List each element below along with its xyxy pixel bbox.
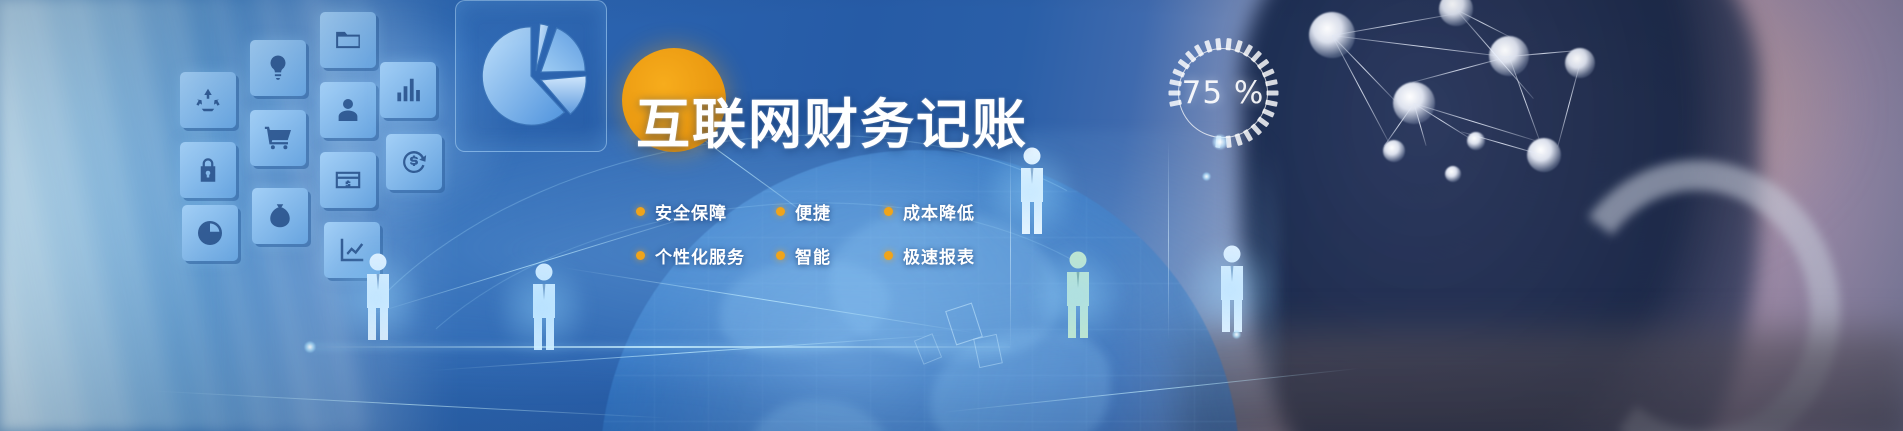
bullet-dot-icon	[884, 207, 893, 216]
feature-label: 成本降低	[903, 199, 975, 224]
cube-credit-card-icon	[320, 152, 376, 208]
network-graph	[1295, 0, 1903, 230]
feature-item: 成本降低	[884, 189, 1004, 233]
cube-money-bag-icon	[252, 188, 308, 244]
cube-user-icon	[320, 82, 376, 138]
feature-label: 智能	[795, 243, 831, 268]
feature-list: 安全保障 便捷 成本降低 个性化服务 智能 极速报表	[636, 189, 1276, 277]
bullet-dot-icon	[636, 207, 645, 216]
cube-recycle-icon	[180, 72, 236, 128]
feature-label: 个性化服务	[655, 243, 745, 268]
cube-lightbulb-icon	[250, 40, 306, 96]
cube-pie-slice-icon	[182, 205, 238, 261]
businessman-figure-2	[524, 262, 564, 352]
bullet-dot-icon	[884, 251, 893, 260]
pie-chart	[474, 15, 592, 133]
feature-item: 安全保障	[636, 189, 776, 233]
hero-banner: 75 %	[0, 0, 1903, 431]
pie-chart-panel	[455, 0, 607, 152]
bullet-dot-icon	[636, 251, 645, 260]
cube-shopping-cart-icon	[250, 110, 306, 166]
bullet-dot-icon	[776, 207, 785, 216]
cube-bar-chart-icon	[380, 62, 436, 118]
feature-item: 极速报表	[884, 233, 1004, 277]
banner-content: 互联网财务记账 安全保障 便捷 成本降低 个性化服务 智能	[636, 98, 1276, 277]
feature-item: 便捷	[776, 189, 884, 233]
cube-refresh-dollar-icon	[386, 134, 442, 190]
feature-item: 智能	[776, 233, 884, 277]
feature-label: 便捷	[795, 199, 831, 224]
feature-item: 个性化服务	[636, 233, 776, 277]
cube-folder-icon	[320, 12, 376, 68]
icon-cube-cluster	[168, 0, 418, 230]
businessman-figure-1	[358, 252, 398, 342]
feature-label: 安全保障	[655, 199, 727, 224]
bullet-dot-icon	[776, 251, 785, 260]
pie-chart-svg	[474, 15, 592, 133]
cube-lock-icon	[180, 142, 236, 198]
feature-label: 极速报表	[903, 243, 975, 268]
network-node	[1445, 166, 1461, 182]
page-title: 互联网财务记账	[636, 98, 1276, 153]
background-bottom-shadow	[1180, 330, 1903, 431]
